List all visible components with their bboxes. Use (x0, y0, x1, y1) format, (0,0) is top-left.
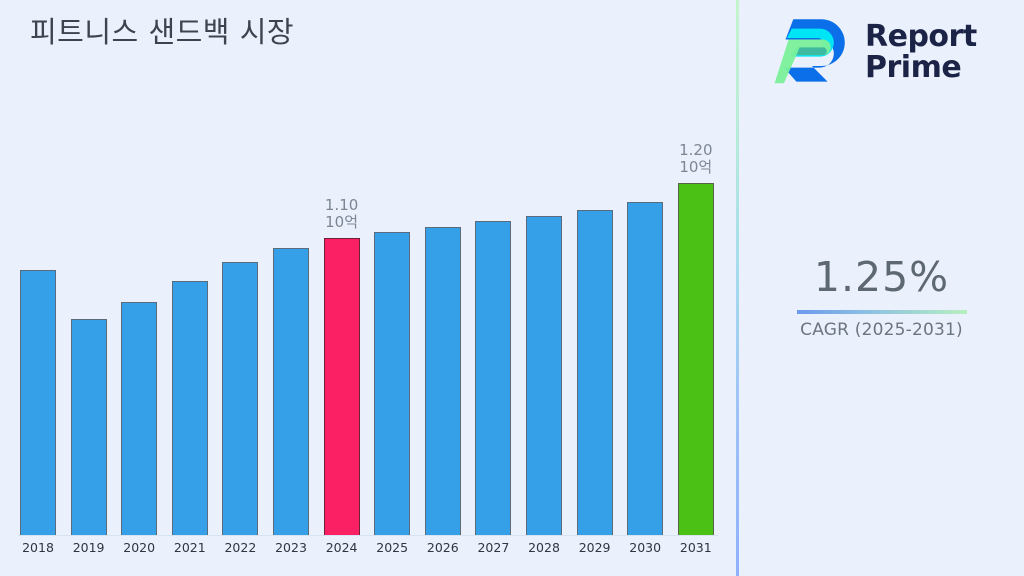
x-axis-tick-2026: 2026 (415, 540, 471, 555)
x-axis-tick-2020: 2020 (111, 540, 167, 555)
bar-2031[interactable] (678, 183, 714, 535)
chart-area: 2018201920202021202220232024202520262027… (0, 0, 736, 576)
bar-2029[interactable] (577, 210, 613, 535)
bar-value-number: 1.10 (300, 197, 384, 214)
x-axis-tick-2031: 2031 (668, 540, 724, 555)
brand-line-2: Prime (865, 50, 961, 85)
bar-2025[interactable] (374, 232, 410, 535)
chart-baseline (18, 535, 718, 536)
x-axis-tick-2029: 2029 (567, 540, 623, 555)
x-axis-tick-2022: 2022 (212, 540, 268, 555)
brand-line-1: Report (865, 19, 977, 54)
bar-value-unit: 10억 (654, 159, 738, 176)
side-panel: Report Prime 1.25% CAGR (2025-2031) (739, 0, 1024, 576)
bar-2021[interactable] (172, 281, 208, 535)
x-axis-tick-2021: 2021 (162, 540, 218, 555)
x-axis-tick-2018: 2018 (10, 540, 66, 555)
x-axis-tick-2024: 2024 (314, 540, 370, 555)
bar-2030[interactable] (627, 202, 663, 535)
x-axis-tick-2030: 2030 (617, 540, 673, 555)
bar-value-label-2024: 1.1010억 (300, 197, 384, 231)
screenshot-root: 피트니스 샌드백 시장 2018201920202021202220232024… (0, 0, 1024, 576)
brand-wordmark: Report Prime (865, 21, 1024, 83)
x-axis-tick-2023: 2023 (263, 540, 319, 555)
bar-chart-plot: 2018201920202021202220232024202520262027… (0, 0, 736, 576)
cagr-block: 1.25% CAGR (2025-2031) (739, 253, 1024, 340)
bar-2028[interactable] (526, 216, 562, 535)
x-axis-tick-2025: 2025 (364, 540, 420, 555)
bar-value-label-2031: 1.2010억 (654, 142, 738, 176)
x-axis-tick-2028: 2028 (516, 540, 572, 555)
bar-2018[interactable] (20, 270, 56, 535)
bar-2022[interactable] (222, 262, 258, 535)
bar-2020[interactable] (121, 302, 157, 535)
bar-value-unit: 10억 (300, 214, 384, 231)
cagr-value: 1.25% (739, 253, 1024, 301)
bar-2027[interactable] (475, 221, 511, 535)
x-axis-tick-2019: 2019 (61, 540, 117, 555)
bar-value-number: 1.20 (654, 142, 738, 159)
bar-2024[interactable] (324, 238, 360, 536)
cagr-divider-rule (797, 310, 967, 314)
x-axis-tick-2027: 2027 (465, 540, 521, 555)
cagr-caption: CAGR (2025-2031) (739, 320, 1024, 340)
bar-2026[interactable] (425, 227, 461, 535)
bar-2019[interactable] (71, 319, 107, 535)
report-prime-logo-mark (773, 13, 851, 91)
bar-2023[interactable] (273, 248, 309, 535)
brand-logo: Report Prime (773, 13, 1024, 91)
